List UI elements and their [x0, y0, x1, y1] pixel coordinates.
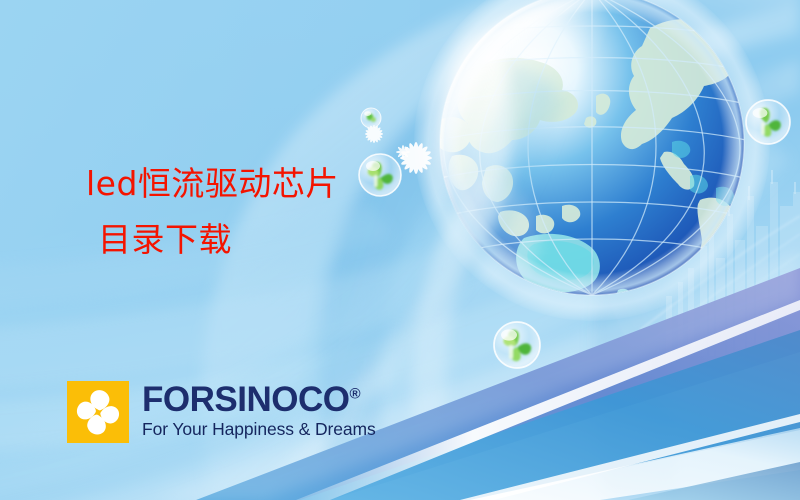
slide-canvas: led恒流驱动芯片 目录下载 FORSINOCO® [0, 0, 800, 500]
sparkle-star-1 [400, 142, 432, 174]
bubble-pinwheel-4 [746, 100, 790, 144]
registered-trademark-icon: ® [349, 385, 360, 402]
logo-tagline: For Your Happiness & Dreams [142, 419, 376, 440]
sparkle-star-3 [396, 145, 410, 159]
logo-wordmark-text: FORSINOCO [142, 380, 349, 419]
logo-wordmark: FORSINOCO® [142, 382, 376, 417]
logo-text-block: FORSINOCO® For Your Happiness & Dreams [142, 381, 376, 440]
bubble-pinwheel-2 [359, 154, 401, 196]
pinwheel-icon [67, 381, 129, 443]
forsinoco-logo: FORSINOCO® For Your Happiness & Dreams [67, 381, 376, 443]
bubble-pinwheel-1 [361, 108, 381, 128]
forsinoco-pinwheel-mark [67, 381, 129, 443]
bubble-pinwheel-3 [494, 322, 540, 368]
